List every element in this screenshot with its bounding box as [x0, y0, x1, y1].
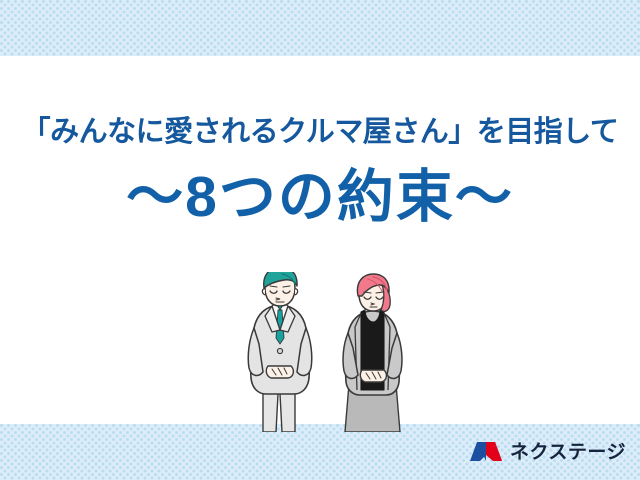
- figure-businessman: [248, 272, 312, 432]
- headline-subtitle: 「みんなに愛されるクルマ屋さん」を目指して: [0, 118, 640, 147]
- top-dot-band: [0, 0, 640, 56]
- brand-logo-text: ネクステージ: [510, 443, 626, 462]
- two-people-bowing-illustration: [232, 272, 422, 432]
- headline-block: 「みんなに愛されるクルマ屋さん」を目指して 〜8つの約束〜: [0, 118, 640, 226]
- brand-logo: ネクステージ: [469, 437, 626, 467]
- nextage-n-mark-icon: [469, 439, 503, 465]
- headline-title: 〜8つの約束〜: [0, 169, 640, 226]
- figure-businesswoman: [343, 274, 402, 432]
- slide-canvas: 「みんなに愛されるクルマ屋さん」を目指して 〜8つの約束〜: [0, 0, 640, 480]
